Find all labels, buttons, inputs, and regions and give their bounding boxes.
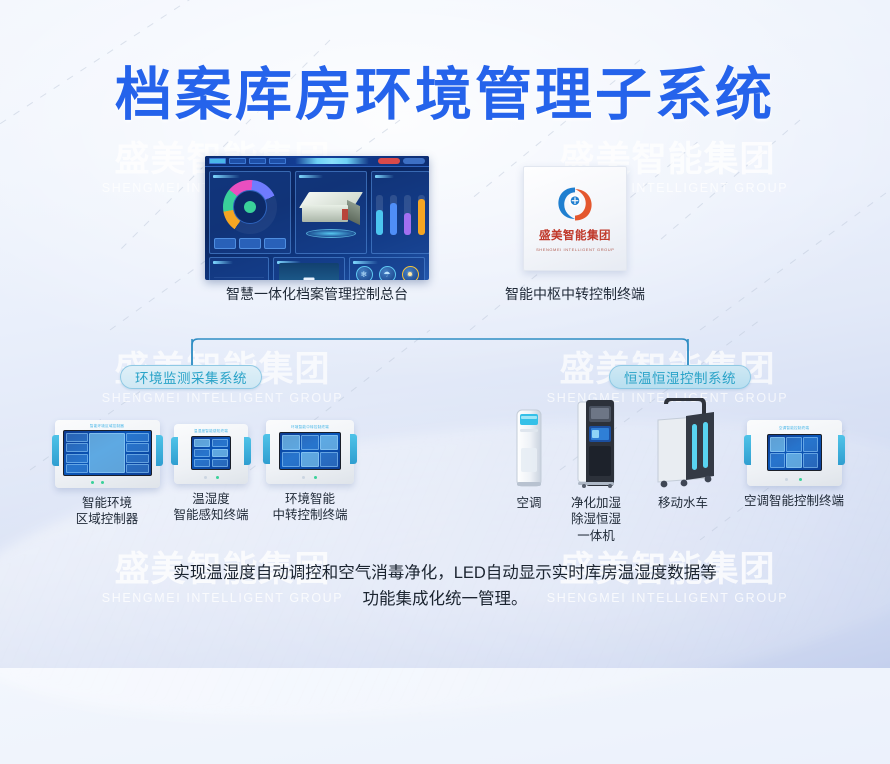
vertical-bar-chart bbox=[376, 195, 425, 235]
gauge-chip[interactable] bbox=[239, 238, 261, 249]
device-purifier-humidifier: 净化加湿 除湿恒湿 一体机 bbox=[558, 398, 634, 544]
dashboard-tab[interactable] bbox=[249, 158, 266, 164]
company-logo-icon bbox=[555, 185, 595, 223]
humidity-icon: ☂ bbox=[379, 266, 396, 280]
dashboard-row-bottom: ◀ ▶ ❄ ☂ ✹ ✢ ◤ ✸ bbox=[209, 257, 425, 280]
status-led bbox=[314, 476, 317, 479]
device-caption: 智能环境 区域控制器 bbox=[76, 495, 139, 528]
device-icon-item[interactable]: ❄ bbox=[354, 266, 374, 280]
dashboard-alert-badge bbox=[378, 158, 400, 164]
gauge-chip[interactable] bbox=[264, 238, 286, 249]
purifier-icon: ✹ bbox=[402, 266, 419, 280]
bottom-note: 实现温湿度自动调控和空气消毒净化，LED自动显示实时库房温湿度数据等 功能集成化… bbox=[95, 560, 795, 613]
dashboard-header bbox=[205, 156, 429, 167]
device-screen[interactable] bbox=[279, 432, 341, 470]
hub-brand-en: SHENGMEI INTELLIGENT GROUP bbox=[536, 247, 614, 252]
device-ac-control-terminal: 空调智能控制终端 空调智能控制终端 bbox=[738, 420, 850, 509]
dashboard-tab[interactable] bbox=[209, 158, 226, 164]
building-3d-model bbox=[300, 192, 362, 226]
device-caption: 温湿度 智能感知终端 bbox=[173, 491, 248, 524]
bar-chart-panel bbox=[371, 171, 429, 254]
device-body: 环境智能中转控制终端 bbox=[266, 420, 354, 484]
bottom-note-line2: 功能集成化统一管理。 bbox=[95, 586, 795, 612]
device-temp-humidity-sensor: 温湿度智能感知终端 温湿度 智能感知终端 bbox=[165, 424, 257, 524]
device-screen-title: 温湿度智能感知终端 bbox=[174, 429, 248, 434]
dashboard-body: ◀ ▶ ❄ ☂ ✹ ✢ ◤ ✸ bbox=[205, 167, 429, 280]
group-label-climate[interactable]: 恒温恒湿控制系统 bbox=[609, 365, 751, 389]
device-icon-item[interactable]: ☂ bbox=[377, 266, 397, 280]
device-air-conditioner: 空调 bbox=[498, 408, 560, 511]
device-caption: 移动水车 bbox=[658, 495, 708, 511]
model-base-ring bbox=[306, 229, 356, 238]
device-env-relay-terminal: 环境智能中转控制终端 环境智能 中转控制终端 bbox=[258, 420, 362, 524]
device-screen-title: 环境智能中转控制终端 bbox=[266, 425, 354, 430]
console-caption: 智慧一体化档案管理控制总台 bbox=[205, 285, 429, 304]
device-icon-grid: ❄ ☂ ✹ ✢ ◤ ✸ bbox=[354, 266, 420, 280]
dashboard-title-bar bbox=[295, 158, 369, 164]
dashboard-tab[interactable] bbox=[269, 158, 286, 164]
temperature-gauge bbox=[223, 180, 277, 234]
page-title: 档案库房环境管理子系统 bbox=[0, 49, 890, 131]
device-caption: 环境智能 中转控制终端 bbox=[272, 491, 347, 524]
hub-device-box: 盛美智能集团 SHENGMEI INTELLIGENT GROUP bbox=[523, 166, 627, 271]
console-dashboard-image: ◀ ▶ ❄ ☂ ✹ ✢ ◤ ✸ bbox=[205, 156, 429, 280]
dashboard-row-top bbox=[209, 171, 425, 254]
device-body bbox=[572, 398, 620, 488]
device-body: 温湿度智能感知终端 bbox=[174, 424, 248, 484]
hub-caption: 智能中枢中转控制终端 bbox=[495, 285, 655, 304]
watermark-en: SHENGMEI INTELLIGENT GROUP bbox=[445, 182, 890, 195]
device-screen[interactable] bbox=[63, 430, 152, 476]
device-screen[interactable] bbox=[767, 434, 822, 471]
device-screen-title: 空调智能控制终端 bbox=[747, 426, 842, 431]
status-led bbox=[204, 476, 207, 479]
dashboard-user-badge bbox=[403, 158, 425, 164]
status-led bbox=[302, 476, 305, 479]
device-caption: 净化加湿 除湿恒湿 一体机 bbox=[571, 495, 621, 544]
bottom-note-line1: 实现温湿度自动调控和空气消毒净化，LED自动显示实时库房温湿度数据等 bbox=[95, 560, 795, 586]
device-screen[interactable] bbox=[191, 436, 231, 470]
watermark-cn: 盛美智能集团 bbox=[445, 142, 890, 179]
device-area-controller: 智能环境区域控制器 智能环境 区域控制器 bbox=[48, 420, 166, 528]
temperature-icon: ❄ bbox=[356, 266, 373, 280]
device-icon-panel: ❄ ☂ ✹ ✢ ◤ ✸ bbox=[349, 257, 425, 280]
device-mobile-cart: 移动水车 bbox=[640, 398, 726, 511]
city-night-photo: ◀ ▶ bbox=[279, 263, 339, 280]
device-screen-title: 智能环境区域控制器 bbox=[55, 424, 160, 429]
line-chart-panel bbox=[209, 257, 269, 280]
hub-device-image: 盛美智能集团 SHENGMEI INTELLIGENT GROUP bbox=[523, 166, 627, 271]
line-chart bbox=[214, 266, 264, 280]
watermark: 盛美智能集团 SHENGMEI INTELLIGENT GROUP bbox=[445, 142, 890, 195]
device-caption: 空调智能控制终端 bbox=[744, 493, 844, 509]
status-led bbox=[799, 478, 802, 481]
gauge-chip[interactable] bbox=[214, 238, 236, 249]
video-preview-panel[interactable]: ◀ ▶ bbox=[273, 257, 345, 280]
device-body: 智能环境区域控制器 bbox=[55, 420, 160, 488]
device-icon-item[interactable]: ✹ bbox=[400, 266, 420, 280]
watermark-row: 盛美智能集团 SHENGMEI INTELLIGENT GROUP 盛美智能集团… bbox=[0, 142, 890, 195]
dashboard-mock: ◀ ▶ ❄ ☂ ✹ ✢ ◤ ✸ bbox=[205, 156, 429, 280]
device-body: 空调智能控制终端 bbox=[747, 420, 842, 486]
device-body bbox=[646, 398, 720, 488]
device-body bbox=[512, 408, 546, 488]
watermark-en: SHENGMEI INTELLIGENT GROUP bbox=[0, 392, 445, 405]
status-led bbox=[216, 476, 219, 479]
hub-brand-cn: 盛美智能集团 bbox=[539, 227, 611, 243]
status-led bbox=[785, 478, 788, 481]
archive-box-icon bbox=[304, 277, 315, 280]
device-caption: 空调 bbox=[516, 495, 541, 511]
gauge-panel bbox=[209, 171, 291, 254]
gauge-chip-row bbox=[214, 238, 286, 249]
dashboard-tab[interactable] bbox=[229, 158, 246, 164]
building-model-panel bbox=[295, 171, 367, 254]
status-led bbox=[101, 481, 104, 484]
group-label-monitoring[interactable]: 环境监测采集系统 bbox=[120, 365, 262, 389]
status-led bbox=[91, 481, 94, 484]
